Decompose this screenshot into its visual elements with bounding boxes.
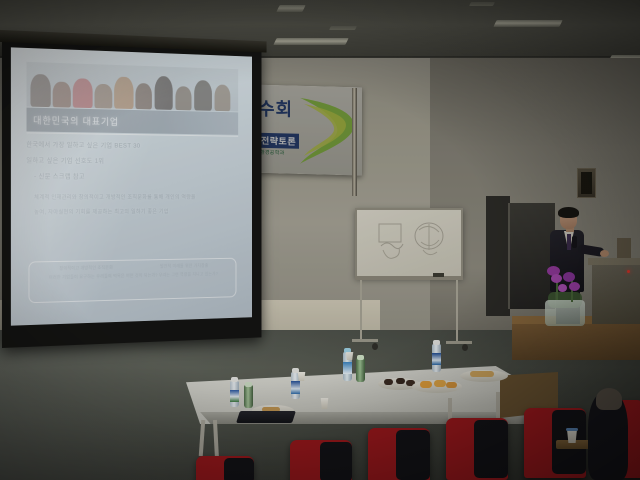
whiteboard-foot <box>352 339 378 342</box>
whiteboard-caster <box>372 343 378 350</box>
bottle-label <box>343 362 352 374</box>
orange-slice <box>434 380 446 387</box>
microphone-icon <box>572 236 577 248</box>
whiteboard-leg <box>456 280 458 342</box>
mobile-whiteboard <box>355 208 463 278</box>
bottle-cap <box>433 340 440 345</box>
ceiling-light-fixture <box>469 2 495 6</box>
bottle-label <box>230 390 239 402</box>
photo-item <box>73 78 93 107</box>
ceiling-light-fixture <box>493 20 562 27</box>
photograph-scene: 수회 전략토론 환경공학과 <box>0 0 640 480</box>
photo-item <box>175 86 192 110</box>
photo-item <box>53 81 71 107</box>
projection-screen: 대한민국의 대표기업 한국에서 가장 일하고 싶은 기업 BEST 30 일하고… <box>2 38 261 348</box>
presenter-tie <box>567 234 571 250</box>
seat-headrest <box>320 442 352 480</box>
photo-item <box>95 84 112 108</box>
ceiling-light-fixture <box>329 26 357 30</box>
orchid-bloom <box>563 272 575 282</box>
flower-wrap <box>545 300 585 326</box>
slide-title-bar: 대한민국의 대표기업 <box>26 108 238 135</box>
slide-note-line: 발전적 미래를 위한 가치창출 <box>160 263 208 270</box>
photo-item <box>114 76 133 108</box>
slide-note-line: 창의적이고 개방적인 조직문화 <box>59 265 113 272</box>
presentation-slide: 대한민국의 대표기업 한국에서 가장 일하고 싶은 기업 BEST 30 일하고… <box>11 47 252 325</box>
seat-headrest <box>396 430 430 480</box>
slide-bullet: 한국에서 가장 일하고 싶은 기업 BEST 30 <box>26 139 238 150</box>
photo-item <box>194 80 212 110</box>
presenter-hand <box>600 250 609 257</box>
screen-surface: 대한민국의 대표기업 한국에서 가장 일하고 싶은 기업 BEST 30 일하고… <box>11 47 252 325</box>
whiteboard-leg <box>360 280 362 340</box>
dark-snack <box>384 379 393 385</box>
whiteboard-eraser <box>433 273 444 277</box>
slide-bullet: 체계적 인재관리와 창의적이고 개방적인 조직문화를 통해 개인의 역량을 <box>26 193 238 201</box>
orchid-bloom <box>569 282 580 291</box>
wall-speaker-icon <box>577 168 596 198</box>
slide-bullet: - 신문 스크랩 참고 <box>26 171 238 181</box>
wall-speaker-icon <box>617 238 631 260</box>
dark-tablet-or-folder <box>236 411 296 423</box>
slide-note-box: 창의적이고 개방적인 조직문화 발전적 미래를 위한 가치창출 이러한 기업들이… <box>29 258 236 303</box>
banner-shading <box>252 85 362 176</box>
photo-item <box>214 84 230 110</box>
bottle-cap <box>245 382 252 387</box>
photo-item <box>135 83 152 109</box>
seat-headrest <box>474 420 508 478</box>
bottle-label <box>432 353 441 365</box>
stage-platform <box>512 322 640 360</box>
cup-rim <box>566 428 578 431</box>
presenter-hair <box>558 207 579 218</box>
dark-snack <box>396 378 405 384</box>
whiteboard-marker-tray <box>355 276 463 280</box>
slide-body: 한국에서 가장 일하고 싶은 기업 BEST 30 일하고 싶은 기업 선호도 … <box>26 139 238 255</box>
bottle-label <box>291 381 300 394</box>
cookie <box>470 371 494 377</box>
whiteboard-foot <box>446 341 472 344</box>
slide-bullet: 일하고 싶은 기업 선호도 1위 <box>26 155 238 166</box>
seat-headrest <box>224 458 254 480</box>
slide-photo-strip <box>26 62 238 111</box>
attendee-hair <box>596 388 622 410</box>
status-indicator-led <box>627 270 630 273</box>
doorway-panel <box>508 203 555 309</box>
whiteboard-caster <box>462 344 468 351</box>
ceiling-light-fixture <box>276 5 305 12</box>
lectern <box>592 262 640 324</box>
bottle-cap <box>357 355 364 360</box>
slide-title-text: 대한민국의 대표기업 <box>26 112 119 128</box>
banner-pole <box>352 88 357 196</box>
bottle-cap <box>231 377 238 382</box>
ceiling-light-fixture <box>273 38 348 45</box>
water-bottle <box>244 385 253 408</box>
slide-bullet: 높여, 자아실현의 기회를 제공하는 최고의 일하기 좋은 기업 <box>26 207 238 216</box>
event-banner: 수회 전략토론 환경공학과 <box>252 85 362 176</box>
photo-item <box>31 74 51 106</box>
orchid-bloom <box>558 284 567 292</box>
orange-slice <box>420 381 432 388</box>
whiteboard-sketch-icon <box>357 210 465 280</box>
dark-doorway <box>486 196 510 316</box>
lectern-top <box>588 258 640 265</box>
table-leg <box>496 392 500 418</box>
orange-slice <box>446 382 457 388</box>
water-bottle <box>356 358 365 382</box>
photo-item <box>154 76 173 110</box>
speaker-grill <box>581 172 592 194</box>
orchid-bloom <box>551 274 562 283</box>
